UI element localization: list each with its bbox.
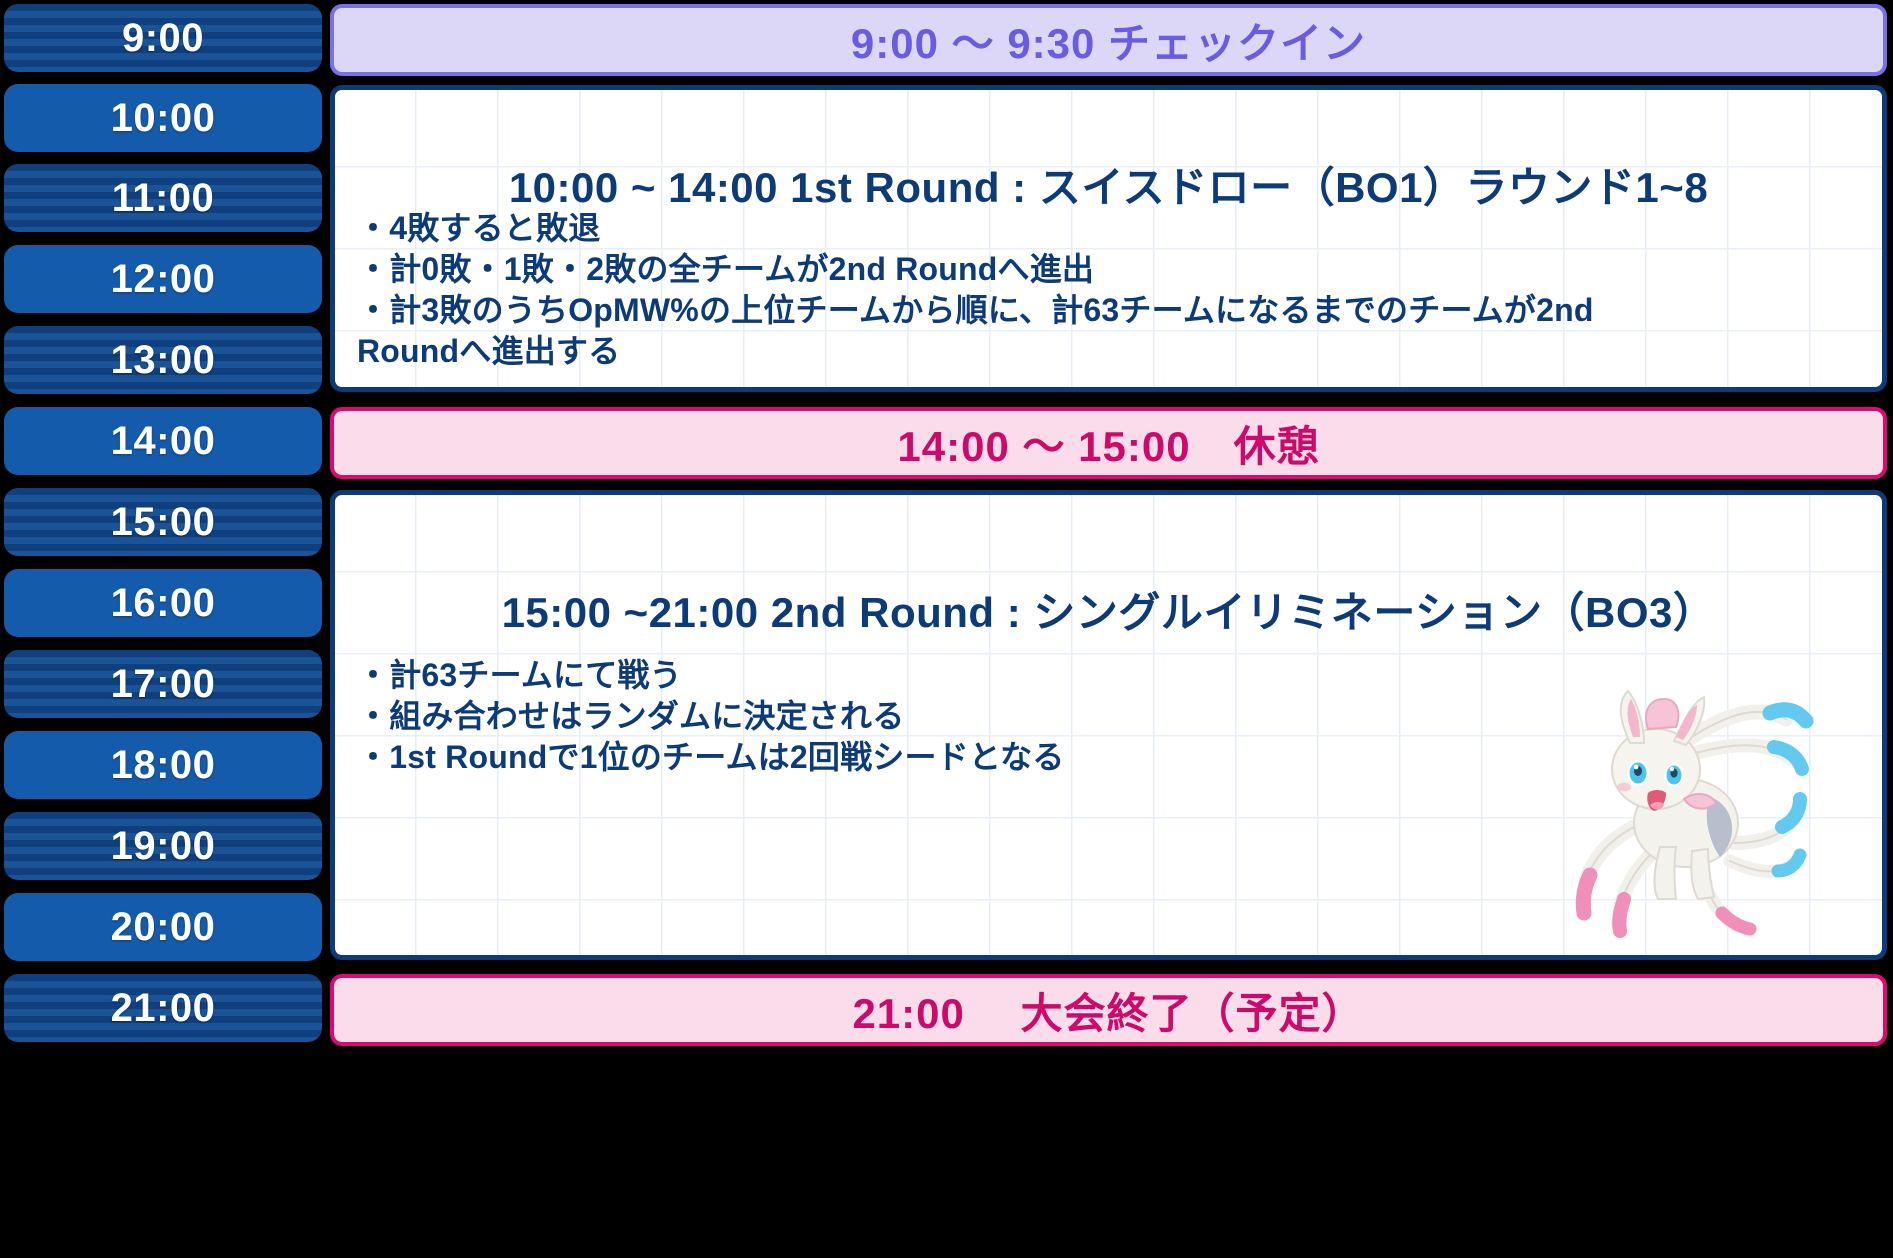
break-label: 14:00 〜 15:00 休憩 (897, 413, 1319, 474)
time-label: 15:00 (111, 500, 216, 545)
round1-bullet-3-cont: Roundへ進出する (357, 331, 1864, 372)
time-label: 19:00 (111, 824, 216, 869)
time-label: 9:00 (122, 16, 204, 61)
round2-block: 15:00 ~21:00 2nd Round : シングルイリミネーション（BO… (330, 490, 1887, 960)
time-chip-1100: 11:00 (4, 164, 322, 232)
time-chip-1900: 19:00 (4, 812, 322, 880)
time-chip-2000: 20:00 (4, 893, 322, 961)
time-chip-1800: 18:00 (4, 731, 322, 799)
event-schedule-timeline: 9:00 10:00 11:00 12:00 13:00 14:00 15:00… (0, 0, 1893, 1258)
end-label: 21:00 大会終了（予定） (852, 980, 1364, 1041)
time-label: 20:00 (111, 905, 216, 950)
time-chip-1200: 12:00 (4, 245, 322, 313)
schedule-content-column: 9:00 〜 9:30 チェックイン 10:00 ~ 14:00 1st Rou… (330, 0, 1893, 1258)
round1-bullet-3: ・計3敗のうちOpMW%の上位チームから順に、計63チームになるまでのチームが2… (357, 290, 1864, 331)
checkin-block: 9:00 〜 9:30 チェックイン (330, 4, 1887, 76)
time-chip-1500: 15:00 (4, 488, 322, 556)
break-block: 14:00 〜 15:00 休憩 (330, 407, 1887, 479)
round2-bullet-2: ・組み合わせはランダムに決定される (357, 696, 1864, 737)
time-chip-1700: 17:00 (4, 650, 322, 718)
time-chip-1600: 16:00 (4, 569, 322, 637)
round2-title: 15:00 ~21:00 2nd Round : シングルイリミネーション（BO… (335, 579, 1882, 640)
round2-inner: 15:00 ~21:00 2nd Round : シングルイリミネーション（BO… (335, 495, 1882, 955)
time-label: 17:00 (111, 662, 216, 707)
round2-bullet-list: ・計63チームにて戦う ・組み合わせはランダムに決定される ・1st Round… (357, 655, 1864, 778)
round2-bullet-1: ・計63チームにて戦う (357, 655, 1864, 696)
round1-bullet-2: ・計0敗・1敗・2敗の全チームが2nd Roundへ進出 (357, 249, 1864, 290)
time-axis-column: 9:00 10:00 11:00 12:00 13:00 14:00 15:00… (0, 0, 322, 1258)
round1-block: 10:00 ~ 14:00 1st Round : スイスドロー（BO1）ラウン… (330, 85, 1887, 392)
checkin-label: 9:00 〜 9:30 チェックイン (851, 10, 1366, 71)
time-label: 16:00 (111, 581, 216, 626)
round1-inner: 10:00 ~ 14:00 1st Round : スイスドロー（BO1）ラウン… (335, 90, 1882, 387)
round1-bullet-1: ・4敗すると敗退 (357, 208, 1864, 249)
time-chip-0900: 9:00 (4, 4, 322, 72)
time-label: 14:00 (111, 419, 216, 464)
time-chip-2100: 21:00 (4, 974, 322, 1042)
round1-bullet-list: ・4敗すると敗退 ・計0敗・1敗・2敗の全チームが2nd Roundへ進出 ・計… (357, 208, 1864, 372)
time-chip-1400: 14:00 (4, 407, 322, 475)
time-label: 18:00 (111, 743, 216, 788)
time-label: 12:00 (111, 257, 216, 302)
time-label: 11:00 (112, 176, 215, 221)
time-label: 21:00 (111, 986, 216, 1031)
time-chip-1300: 13:00 (4, 326, 322, 394)
time-label: 13:00 (111, 338, 216, 383)
end-block: 21:00 大会終了（予定） (330, 974, 1887, 1046)
time-label: 10:00 (111, 96, 216, 141)
round2-bullet-3: ・1st Roundで1位のチームは2回戦シードとなる (357, 737, 1864, 778)
time-chip-1000: 10:00 (4, 84, 322, 152)
round1-title: 10:00 ~ 14:00 1st Round : スイスドロー（BO1）ラウン… (335, 154, 1882, 215)
